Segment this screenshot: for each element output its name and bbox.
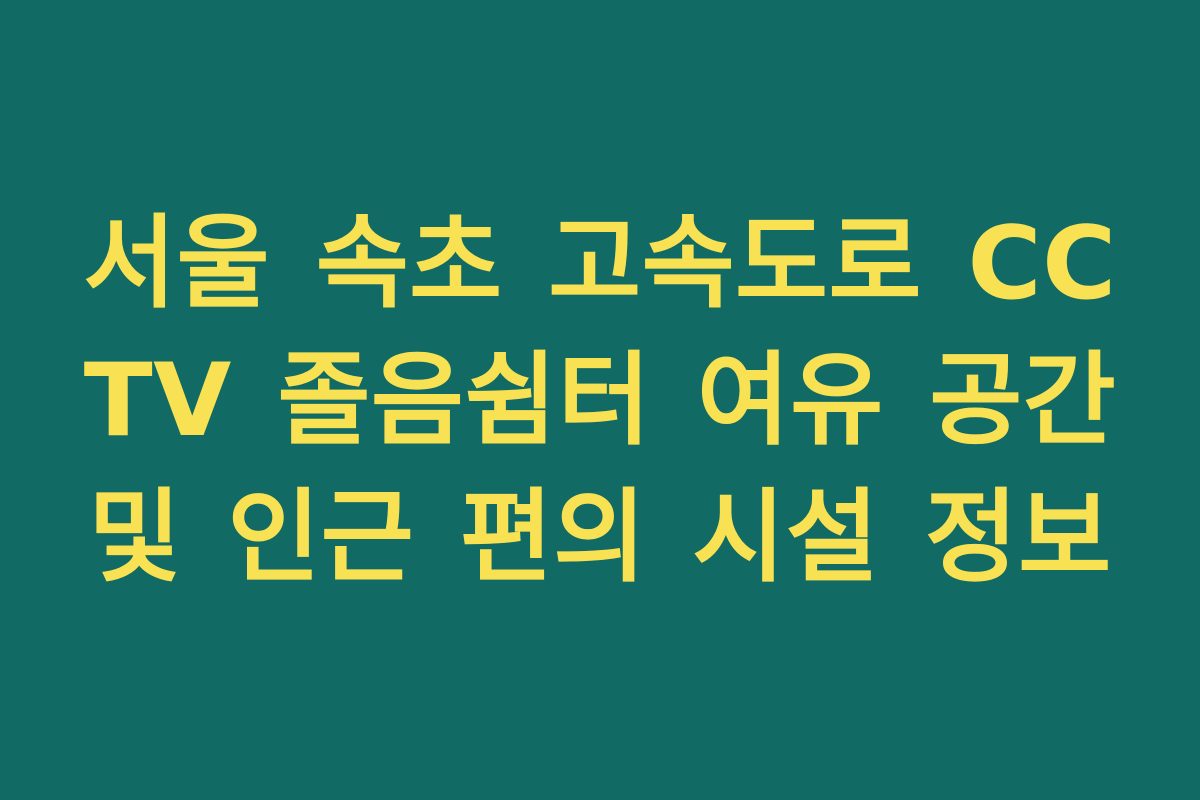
title-card: 서울 속초 고속도로 CCTV 졸음쉼터 여유 공간 및 인근 편의 시설 정보 <box>0 0 1200 800</box>
page-title: 서울 속초 고속도로 CCTV 졸음쉼터 여유 공간 및 인근 편의 시설 정보 <box>70 195 1130 606</box>
